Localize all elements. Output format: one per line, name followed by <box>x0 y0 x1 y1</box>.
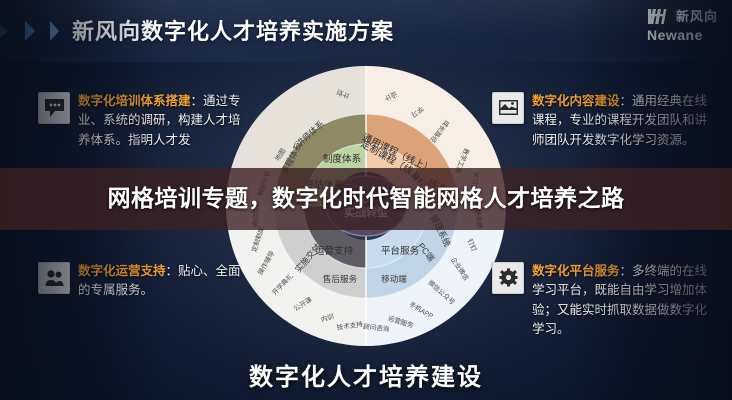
brand-logo: 新风向 Newane <box>647 8 718 43</box>
card-sep: ： <box>620 94 633 108</box>
gear-icon <box>492 262 524 294</box>
card-sep: ： <box>191 94 204 108</box>
wheel-mid-shouhou: 售后服务 <box>323 273 358 284</box>
card-text: 数字化平台服务：多终端的在线学习平台，既能自由学习增加体验；又能实时抓取数据做数… <box>532 262 712 340</box>
users-icon <box>38 262 70 294</box>
card-content-construction[interactable]: 数字化内容建设：通用经典在线课程，专业的课程开发团队和讲师团队开发数字化学习资源… <box>492 92 712 150</box>
card-operation-support[interactable]: 数字化运营支持：贴心、全面的专属服务。 <box>38 262 250 301</box>
card-title: 数字化运营支持 <box>78 264 166 278</box>
logo-text-en: Newane <box>647 28 718 43</box>
speech-bubble-icon <box>38 92 70 124</box>
card-text: 数字化培训体系搭建：通过专业、系统的调研，构建人才培养体系。指明人才发 <box>78 92 250 150</box>
card-text: 数字化内容建设：通用经典在线课程，专业的课程开发团队和讲师团队开发数字化学习资源… <box>532 92 712 150</box>
card-platform-service[interactable]: 数字化平台服务：多终端的在线学习平台，既能自由学习增加体验；又能实时抓取数据做数… <box>492 262 712 340</box>
wheel-mid-yidong: 移动端 <box>381 273 407 284</box>
card-text: 数字化运营支持：贴心、全面的专属服务。 <box>78 262 250 301</box>
logo-text-cn: 新风向 <box>676 10 718 23</box>
wheel-inner-pingtai: 平台服务 <box>381 245 420 257</box>
chevron-right-icon <box>0 18 68 44</box>
slide-header: 新风向数字化人才培养实施方案 新风向 Newane <box>0 0 732 62</box>
card-title: 数字化培训体系搭建 <box>78 94 191 108</box>
card-training-system[interactable]: 数字化培训体系搭建：通过专业、系统的调研，构建人才培养体系。指明人才发 <box>38 92 250 150</box>
newane-logo-mark <box>647 8 673 25</box>
page-title: 新风向数字化人才培养实施方案 <box>72 14 394 46</box>
slide-canvas: 新风向数字化人才培养实施方案 新风向 Newane <box>0 0 732 400</box>
card-title: 数字化平台服务 <box>532 264 620 278</box>
overlay-title: 网格培训专题，数字化时代智能网格人才培养之路 <box>46 185 686 212</box>
card-sep: ： <box>166 264 179 278</box>
overlay-title-band: 网格培训专题，数字化时代智能网格人才培养之路 <box>0 168 732 230</box>
card-title: 数字化内容建设 <box>532 94 620 108</box>
wheel-inner-zhidu: 制度体系 <box>323 153 361 165</box>
image-icon <box>492 92 524 124</box>
card-sep: ： <box>620 264 633 278</box>
bottom-caption: 数字化人才培养建设 <box>0 357 732 392</box>
